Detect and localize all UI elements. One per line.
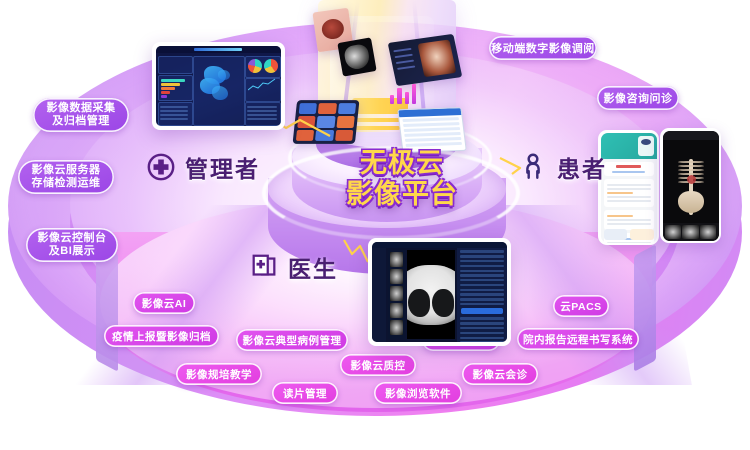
- role-doctor[interactable]: 医生: [249, 250, 338, 284]
- pill-quality-control[interactable]: 影像云质控: [340, 354, 416, 376]
- ct-side-panel: [457, 248, 507, 342]
- person-icon: [518, 152, 548, 182]
- pill-remote-reporting[interactable]: 院内报告远程书写系统: [517, 328, 639, 350]
- angiography-monitor-thumbnail: [388, 34, 463, 86]
- hospital-plus-circle-icon: [146, 152, 176, 182]
- pill-epidemic-archive[interactable]: 疫情上报暨影像归档: [104, 325, 219, 347]
- patient-phone-report-device[interactable]: [598, 130, 659, 245]
- ultrasound-thumbnail: [337, 37, 376, 76]
- role-admin[interactable]: 管理者: [146, 150, 260, 184]
- china-map-graphic: [194, 60, 242, 110]
- tower-gold-band-2: [352, 118, 404, 122]
- pill-viewer-software[interactable]: 影像浏览软件: [374, 382, 462, 404]
- pill-typical-case[interactable]: 影像云典型病例管理: [236, 329, 348, 351]
- app-tiles-thumbnail: [293, 100, 360, 144]
- medical-record-plus-icon: [249, 252, 279, 282]
- role-admin-label: 管理者: [185, 150, 260, 184]
- pill-film-reading[interactable]: 读片管理: [272, 382, 338, 404]
- pill-data-collection[interactable]: 影像数据采集 及归档管理: [33, 98, 129, 132]
- pill-cloud-pacs[interactable]: 云PACS: [553, 295, 609, 317]
- patient-report-screen: [601, 133, 657, 243]
- pill-cloud-consultation[interactable]: 影像云会诊: [462, 363, 538, 385]
- patient-3d-screen: [663, 131, 719, 241]
- patient-phone-3d-device[interactable]: [660, 128, 721, 243]
- admin-dashboard-device[interactable]: [152, 42, 285, 130]
- role-patient-label: 患者: [557, 150, 607, 184]
- report-sheet-thumbnail: [397, 107, 467, 153]
- pill-cloud-server[interactable]: 影像云服务器 存储检测运维: [18, 160, 114, 194]
- pill-standard-teaching[interactable]: 影像规培教学: [176, 363, 262, 385]
- pill-consultation[interactable]: 影像咨询问诊: [597, 86, 679, 110]
- pill-cloud-ai[interactable]: 影像云AI: [133, 292, 195, 314]
- ct-image-area: [407, 250, 455, 339]
- role-doctor-label: 医生: [288, 250, 338, 284]
- skeleton-3d-render: [676, 159, 706, 215]
- tower-gold-band-3: [352, 126, 400, 130]
- ct-viewer-screen: [372, 242, 507, 342]
- admin-dashboard-screen: [156, 46, 281, 126]
- wedge-wall-right: [634, 244, 656, 372]
- bar-chart-glyph: [390, 80, 416, 104]
- pill-console-bi[interactable]: 影像云控制台 及BI展示: [26, 228, 118, 262]
- doctor-ct-viewer-device[interactable]: [368, 238, 511, 346]
- pill-mobile-retrieval[interactable]: 移动端数字影像调阅: [489, 36, 597, 60]
- infographic-canvas: 无极云 影像平台 管理者 医生 患者: [0, 0, 750, 450]
- role-patient[interactable]: 患者: [518, 150, 607, 184]
